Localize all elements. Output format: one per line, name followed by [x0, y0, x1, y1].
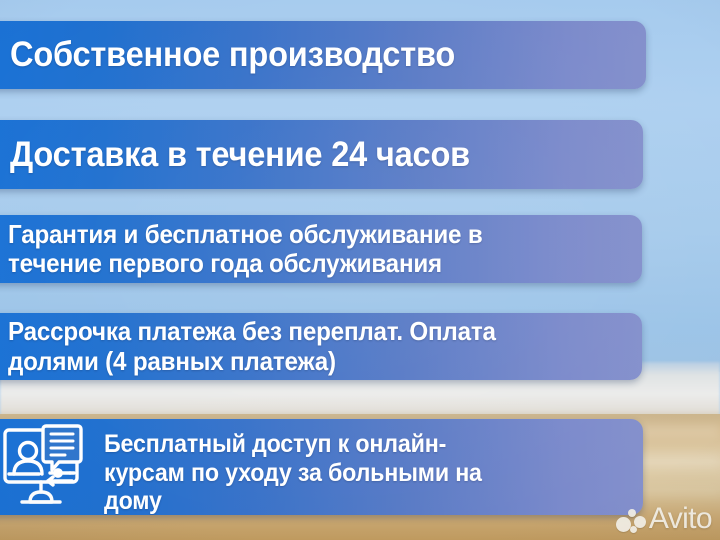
- banner-text: Бесплатный доступ к онлайн- курсам по ух…: [104, 419, 482, 515]
- banner-text: Доставка в течение 24 часов: [10, 136, 470, 173]
- online-course-monitor-icon: [0, 422, 94, 512]
- banner-installment-payment: Рассрочка платежа без переплат. Оплата д…: [0, 313, 642, 380]
- banner-delivery-24h: Доставка в течение 24 часов: [0, 120, 643, 189]
- promo-image: Собственное производство Доставка в тече…: [0, 0, 720, 540]
- banner-own-production: Собственное производство: [0, 21, 646, 89]
- banner-warranty-free-service: Гарантия и бесплатное обслуживание в теч…: [0, 215, 642, 283]
- avito-dots-icon: [616, 504, 646, 534]
- avito-brand-text: Avito: [649, 504, 712, 534]
- banner-free-online-courses: Бесплатный доступ к онлайн- курсам по ух…: [0, 419, 643, 515]
- banner-text: Гарантия и бесплатное обслуживание в теч…: [8, 220, 483, 278]
- banner-text: Рассрочка платежа без переплат. Оплата д…: [8, 317, 496, 375]
- banner-text: Собственное производство: [10, 36, 455, 73]
- avito-watermark: Avito: [616, 504, 712, 534]
